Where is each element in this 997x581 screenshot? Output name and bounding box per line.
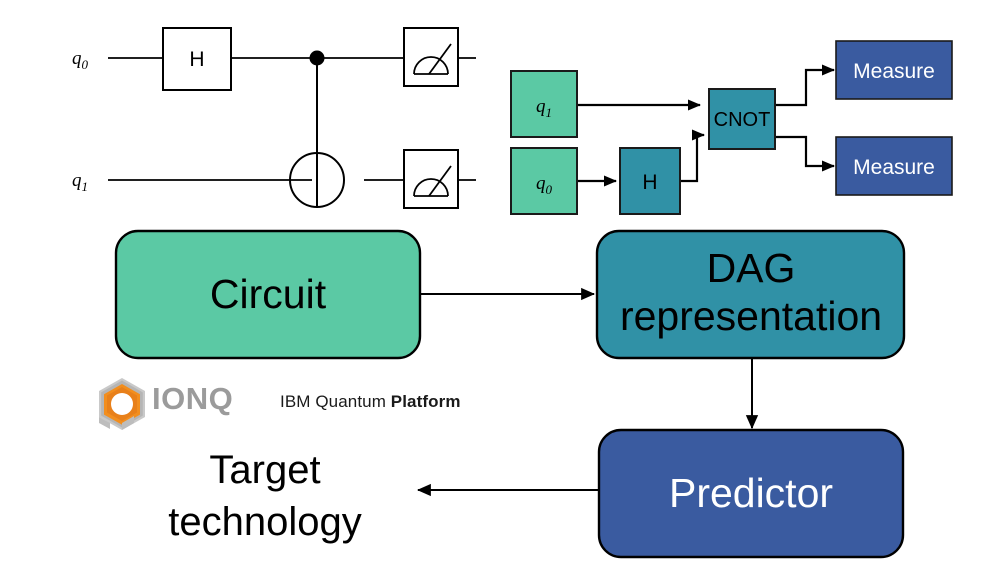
dag-node-measure-bottom[interactable]: Measure xyxy=(836,137,952,195)
flow-box-predictor-label: Predictor xyxy=(669,470,833,516)
dag-node-cnot[interactable]: CNOT xyxy=(709,89,775,149)
ionq-logo-icon xyxy=(99,378,145,430)
circuit-gate-measure-q0[interactable] xyxy=(404,28,458,86)
circuit-wire-label-q1: q1 xyxy=(72,170,88,194)
flow-box-predictor[interactable]: Predictor xyxy=(599,430,903,557)
dag-node-hadamard[interactable]: H xyxy=(620,148,680,214)
circuit-gate-hadamard[interactable]: H xyxy=(163,28,231,90)
flow-label-target-technology: Target technology xyxy=(168,448,361,544)
flow-box-dag-label-line1: DAG xyxy=(707,245,796,291)
circuit-wire-label-q0: q0 xyxy=(72,48,89,72)
circuit-gate-hadamard-label: H xyxy=(189,48,204,71)
diagram-canvas: q0 q1 H xyxy=(0,0,997,581)
circuit-cnot-control-dot xyxy=(310,51,325,66)
dag-node-measure-bottom-label: Measure xyxy=(853,156,935,179)
circuit-gate-measure-q1[interactable] xyxy=(404,150,458,208)
dag-edge-cnot-to-measure-top xyxy=(775,70,834,105)
pipeline-flowchart: Circuit DAG representation Predictor Tar… xyxy=(116,231,904,557)
dag-node-measure-top[interactable]: Measure xyxy=(836,41,952,99)
target-technology-line1: Target xyxy=(209,448,320,492)
diagram-svg: q0 q1 H xyxy=(0,0,997,581)
dag-edge-h-to-cnot xyxy=(680,135,704,181)
flow-box-circuit-label: Circuit xyxy=(210,271,327,317)
flow-box-circuit[interactable]: Circuit xyxy=(116,231,420,358)
dag-node-cnot-label: CNOT xyxy=(714,109,771,131)
ibm-quantum-platform-label: IBM Quantum Platform xyxy=(280,392,461,412)
dag-node-measure-top-label: Measure xyxy=(853,60,935,83)
dag-node-hadamard-label: H xyxy=(642,171,657,194)
ionq-wordmark: IONQ xyxy=(152,381,233,417)
dag-edge-cnot-to-measure-bottom xyxy=(775,137,834,166)
flow-box-dag[interactable]: DAG representation xyxy=(597,231,904,358)
quantum-circuit: q0 q1 H xyxy=(72,28,476,208)
flow-box-dag-label-line2: representation xyxy=(620,293,882,339)
dag-node-q0[interactable]: q0 xyxy=(511,148,577,214)
dag-node-q1[interactable]: q1 xyxy=(511,71,577,137)
dag-graph: q1 q0 H CNOT Measure xyxy=(511,41,952,214)
circuit-gate-cnot[interactable] xyxy=(290,51,344,209)
target-technology-line2: technology xyxy=(168,500,361,544)
ibm-prefix: IBM Quantum xyxy=(280,392,391,411)
ibm-platform: Platform xyxy=(391,392,461,411)
